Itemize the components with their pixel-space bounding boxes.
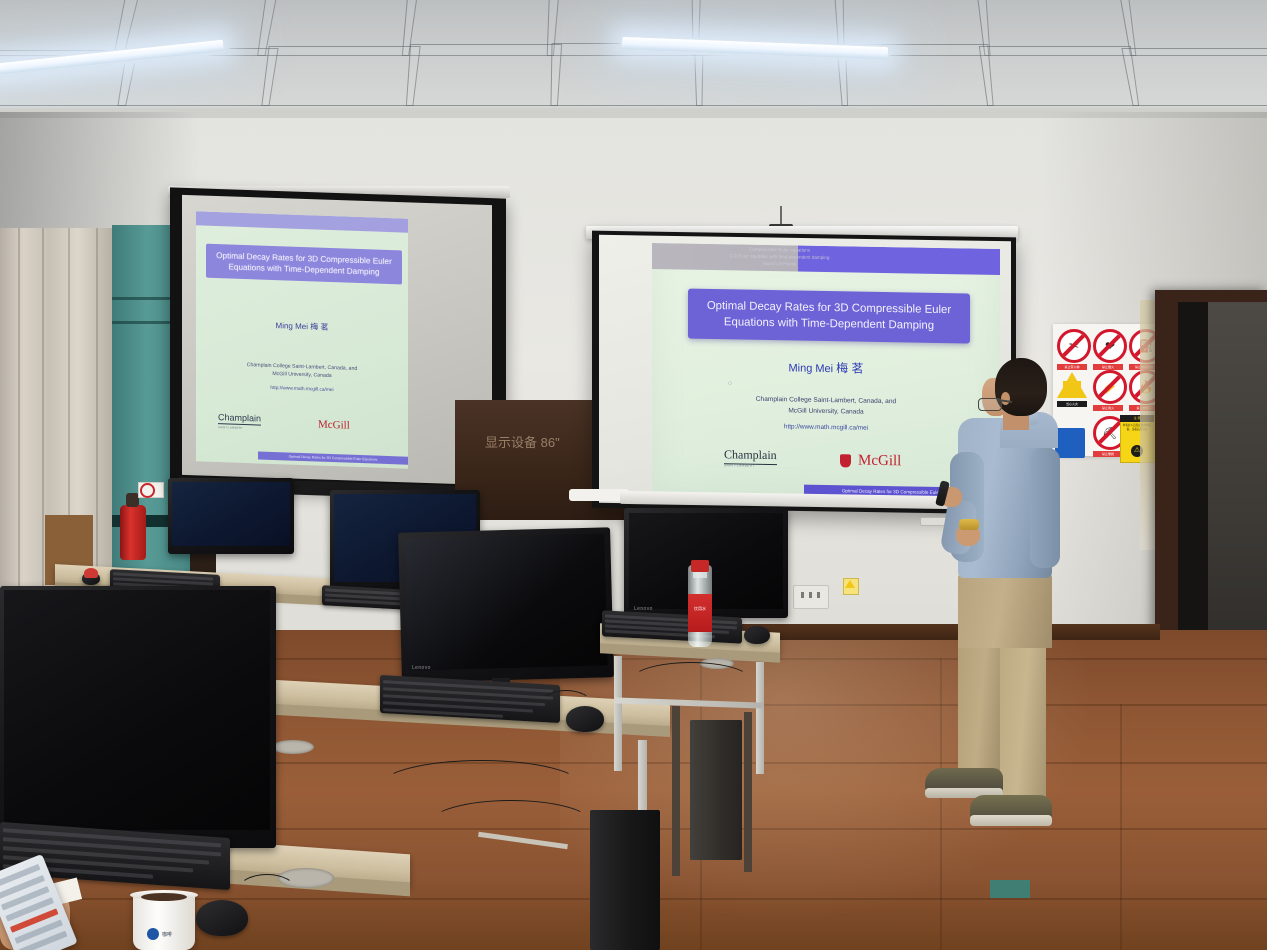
- prohibition-icon-2: ❤: [1093, 329, 1127, 363]
- left-slide-footer: Optimal Decay Rates for 3D Compressible …: [258, 451, 408, 464]
- left-slide-champlain-logo: Champlain: [218, 412, 261, 426]
- prohibition-icon-1: ✂: [1057, 329, 1091, 363]
- prohibition-caption-4: 禁止用火: [1093, 405, 1123, 411]
- fire-extinguisher: [120, 505, 146, 560]
- prohibition-caption-1: 禁止带火种: [1057, 364, 1087, 370]
- small-warning-triangle-icon: [845, 580, 855, 588]
- wall-cabinet-label: 显示设备 86": [485, 432, 560, 451]
- mouse-front-left[interactable]: [196, 900, 248, 936]
- slide-outline-header: Compressible Euler equations 3-D Euler e…: [672, 244, 887, 269]
- monitor-front-left-screen: [4, 590, 270, 830]
- monitor-center-brand: Lenovo: [412, 665, 431, 671]
- slide-affiliation: Champlain College Saint-Lambert, Canada,…: [652, 393, 1000, 420]
- cup-logo-text: 咖啡: [162, 931, 172, 938]
- water-bottle-label: [688, 594, 712, 632]
- floor-cable-right: [630, 662, 752, 700]
- mouse-cable-center: [540, 690, 592, 718]
- power-outlet[interactable]: [793, 585, 829, 609]
- desk-right-leg-near: [614, 656, 622, 771]
- slide-author: Ming Mei 梅 茗: [652, 356, 1000, 379]
- fire-warning-caption: 当心火灾: [1057, 401, 1087, 407]
- desk-frame-right-2: [744, 712, 752, 872]
- slide-affiliation-line1: Champlain College Saint-Lambert, Canada,…: [756, 396, 896, 405]
- presenter-shoe-right-sole: [970, 815, 1052, 826]
- right-projected-slide: Compressible Euler equations 3-D Euler e…: [652, 243, 1000, 502]
- mouse-cable-front: [238, 874, 296, 906]
- mandatory-blue-sign: [1055, 428, 1085, 458]
- slide-author-latin: Ming Mei: [788, 362, 833, 375]
- no-smoking-icon: [140, 483, 155, 498]
- desk-cable-grommet-center: [272, 740, 314, 754]
- left-slide-author: Ming Mei 梅 茗: [196, 317, 408, 335]
- monitor-center-reflection: [404, 533, 607, 670]
- slide-author-chinese: 梅 茗: [836, 361, 863, 375]
- prohibition-caption-6: 禁止攀爬: [1093, 451, 1123, 457]
- slide-bullet-glyph: ◌: [728, 380, 732, 387]
- monitor-right-brand: Lenovo: [634, 606, 653, 612]
- left-slide-mcgill-logo: McGill: [318, 419, 350, 432]
- classroom-presentation-photo: Optimal Decay Rates for 3D Compressible …: [0, 0, 1267, 950]
- presenter-leg-right: [1000, 636, 1046, 806]
- left-slide-title: Optimal Decay Rates for 3D Compressible …: [206, 244, 402, 285]
- slide-affiliation-line2: McGill University, Canada: [788, 407, 863, 415]
- fire-warning-triangle-icon: [1057, 372, 1087, 398]
- champlain-logo-subtitle: SAINT-LAMBERT: [724, 463, 755, 468]
- water-bottle-label-text: 饮用水: [690, 606, 710, 612]
- teal-pc-accent: [990, 880, 1030, 898]
- slide-url: http://www.math.mcgill.ca/mei: [652, 421, 1000, 434]
- presenter-arm-right: [1030, 448, 1060, 568]
- mcgill-shield-icon: [840, 454, 851, 467]
- suspended-ceiling: [0, 0, 1267, 118]
- prohibition-icon-4: ⚡: [1093, 370, 1127, 404]
- desk-right-leg-far: [756, 662, 764, 774]
- pc-tower-center: [590, 810, 660, 950]
- mcgill-logo: McGill: [858, 453, 901, 471]
- presenter-hair: [995, 358, 1047, 416]
- red-object-far-left: [84, 568, 98, 578]
- left-projected-slide: Optimal Decay Rates for 3D Compressible …: [196, 211, 408, 468]
- presenter-wristwatch: [959, 519, 979, 530]
- desk-frame-right: [672, 706, 680, 876]
- cup-contents: [141, 893, 187, 901]
- slide-title-line2: Equations with Time-Dependent Damping: [724, 316, 934, 332]
- left-slide-champlain-sub: SAINT-LAMBERT: [218, 425, 243, 430]
- slide-title-line1: Optimal Decay Rates for 3D Compressible …: [707, 300, 951, 316]
- slide-title: Optimal Decay Rates for 3D Compressible …: [688, 289, 970, 344]
- cup-logo-icon: [147, 928, 159, 940]
- water-bottle-cap: [691, 560, 709, 572]
- presenter-ear: [1001, 392, 1010, 405]
- left-slide-url: http://www.math.mcgill.ca/mei: [196, 383, 408, 395]
- paper-coffee-cup[interactable]: [133, 893, 195, 950]
- presenter-trousers: [958, 572, 1052, 648]
- mouse-right[interactable]: [744, 626, 770, 644]
- pc-tower-right-panel: [690, 720, 742, 860]
- left-slide-affiliation: Champlain College Saint-Lambert, Canada,…: [196, 359, 408, 382]
- monitor-far-left-1-screen: [172, 482, 290, 546]
- door-gap-shadow: [1178, 302, 1208, 682]
